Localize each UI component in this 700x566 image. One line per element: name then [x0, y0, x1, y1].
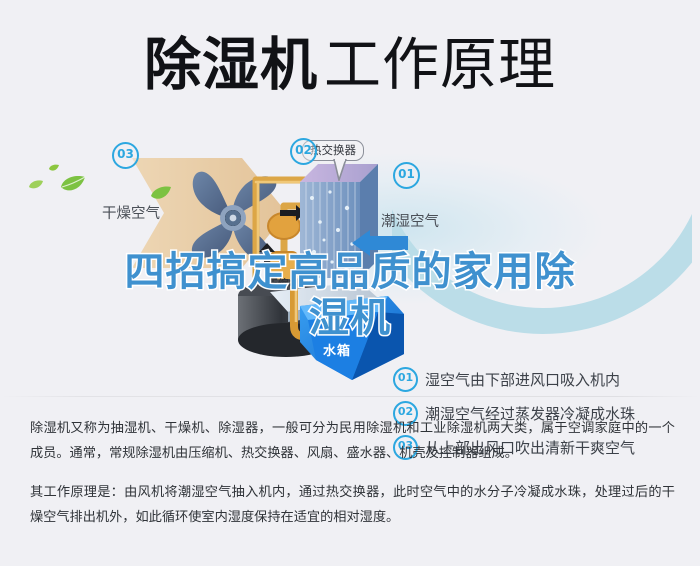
infographic-page: 除湿机工作原理	[0, 0, 700, 566]
section-divider	[0, 396, 700, 397]
legend-item: 01 湿空气由下部进风口吸入机内	[393, 362, 693, 396]
badge-03-illustration: 03	[112, 142, 139, 169]
body-paragraph-1: 除湿机又称为抽湿机、干燥机、除湿器，一般可分为民用除湿机和工业除湿机两大类，属于…	[30, 416, 675, 466]
callout-tail-icon	[333, 159, 347, 181]
article-body: 除湿机又称为抽湿机、干燥机、除湿器，一般可分为民用除湿机和工业除湿机两大类，属于…	[30, 416, 675, 530]
label-water-tank: 水箱	[323, 340, 351, 359]
body-paragraph-2: 其工作原理是：由风机将潮湿空气抽入机内，通过热交换器，此时空气中的水分子冷凝成水…	[30, 480, 675, 530]
title-part-secondary: 工作原理	[324, 32, 556, 98]
page-title: 除湿机工作原理	[0, 30, 700, 100]
title-part-primary: 除湿机	[144, 32, 318, 98]
illustration-stage: 热交换器 03 干燥空气 02 01 潮湿空气	[0, 118, 700, 393]
legend-number: 01	[393, 367, 418, 392]
leaf-icon-right	[150, 186, 172, 202]
compressor-and-tank-graphic	[228, 268, 418, 383]
leaf-icon-tiny	[28, 180, 44, 192]
legend-label: 湿空气由下部进风口吸入机内	[425, 369, 620, 390]
humid-air-intake-arrow	[352, 230, 408, 256]
heat-exchanger-graphic	[300, 164, 378, 282]
leaf-icon-small	[48, 164, 60, 174]
leaf-icon-medium	[60, 176, 86, 194]
badge-01-illustration: 01	[393, 162, 420, 189]
label-compressor: 压缩机	[267, 276, 300, 291]
label-humid-air: 潮湿空气	[381, 210, 439, 231]
label-dry-air: 干燥空气	[102, 202, 160, 223]
badge-02-illustration: 02	[290, 138, 317, 165]
